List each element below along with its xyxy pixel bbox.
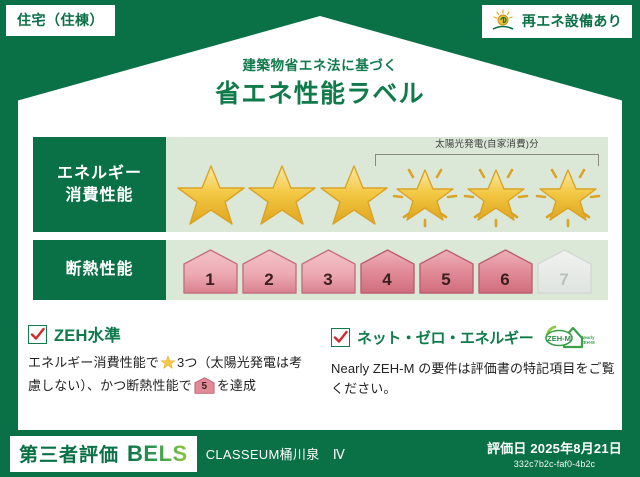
evaluation-id: 332c7b2c-faf0-4b2c [487, 459, 622, 469]
insulation-grade-list: 1 2 3 4 [174, 246, 600, 295]
insulation-grade-2: 2 [241, 248, 298, 295]
inline-star-icon [160, 354, 176, 376]
solar-sun-icon [490, 9, 516, 33]
claim-zeh-title: ZEH水準 [54, 322, 121, 346]
inline-grade-number: 5 [194, 379, 215, 395]
claims-section: ZEH水準 エネルギー消費性能で3つ（太陽光発電は考慮しない）、かつ断熱性能で5… [28, 322, 616, 399]
insulation-performance-row: 断熱性能 [33, 240, 608, 300]
claim-zeh-desc-part1: エネルギー消費性能で [28, 355, 159, 370]
renewable-energy-badge: 再エネ設備あり [482, 5, 632, 38]
insulation-grade-2-number: 2 [241, 270, 298, 290]
bels-certification-chip: 第三者評価 BELS [10, 436, 197, 472]
checkmark-icon [28, 325, 47, 344]
energy-label-line2: 消費性能 [65, 185, 133, 207]
claim-zeh-description: エネルギー消費性能で3つ（太陽光発電は考慮しない）、かつ断熱性能で5を達成 [28, 353, 313, 396]
svg-text:ZEH-M: ZEH-M [582, 340, 596, 345]
insulation-performance-label: 断熱性能 [33, 240, 166, 300]
inline-grade-badge-icon: 5 [194, 377, 215, 394]
label-titles: 建築物省エネ法に基づく 省エネ性能ラベル [0, 58, 640, 109]
energy-star-6-solar [531, 160, 602, 228]
energy-label-root: 住宅（住棟） 再エネ設備あり 建築物省エネ法に基づく 省エネ性能ラベル [0, 0, 640, 477]
insulation-grade-3: 3 [300, 248, 357, 295]
energy-performance-label: エネルギー 消費性能 [33, 137, 166, 232]
insulation-grade-5-number: 5 [418, 270, 475, 290]
insulation-grade-1-number: 1 [182, 270, 239, 290]
energy-star-5-solar [459, 160, 530, 228]
bels-jp-label: 第三者評価 [19, 440, 119, 467]
energy-star-4-solar [388, 160, 459, 228]
title-main: 省エネ性能ラベル [0, 80, 640, 109]
insulation-grade-5: 5 [418, 248, 475, 295]
checkmark-icon [331, 328, 350, 347]
bels-logo-text: BELS [127, 441, 188, 467]
energy-performance-stars-area: 太陽光発電(自家消費)分 [166, 137, 608, 232]
insulation-grade-area: 1 2 3 4 [166, 240, 608, 300]
insulation-grade-7-number: 7 [536, 270, 593, 290]
category-tab: 住宅（住棟） [6, 5, 115, 36]
energy-star-2 [245, 160, 316, 228]
claim-zeh-desc-part3: を達成 [217, 378, 256, 393]
claim-zeh-header: ZEH水準 [28, 322, 313, 346]
insulation-grade-4-number: 4 [359, 270, 416, 290]
evaluation-date: 評価日 2025年8月21日 [487, 438, 622, 457]
solar-annotation-label: 太陽光発電(自家消費)分 [375, 140, 599, 150]
claim-net-zero-energy: ネット・ゼロ・エネルギー ZEH-M Nearly ZEH-M Nearly Z… [331, 322, 616, 399]
evaluation-info: 評価日 2025年8月21日 332c7b2c-faf0-4b2c [487, 438, 622, 469]
energy-star-3 [317, 160, 388, 228]
insulation-grade-4: 4 [359, 248, 416, 295]
insulation-grade-6-number: 6 [477, 270, 534, 290]
insulation-grade-7: 7 [536, 248, 593, 295]
insulation-grade-3-number: 3 [300, 270, 357, 290]
project-name: CLASSEUM桶川泉 Ⅳ [206, 444, 345, 463]
insulation-grade-6: 6 [477, 248, 534, 295]
energy-star-list [174, 159, 602, 228]
claim-nze-description: Nearly ZEH-M の要件は評価書の特記項目をご覧ください。 [331, 359, 616, 399]
svg-text:ZEH-M: ZEH-M [548, 334, 572, 343]
insulation-label-text: 断熱性能 [65, 259, 133, 281]
energy-performance-row: エネルギー 消費性能 太陽光発電(自家消費)分 [33, 137, 608, 232]
energy-star-1 [174, 160, 245, 228]
footer-bar: 第三者評価 BELS CLASSEUM桶川泉 Ⅳ 評価日 2025年8月21日 … [0, 430, 640, 477]
energy-label-line1: エネルギー [57, 163, 142, 185]
claim-zeh-standard: ZEH水準 エネルギー消費性能で3つ（太陽光発電は考慮しない）、かつ断熱性能で5… [28, 322, 313, 399]
zeh-m-logo-icon: ZEH-M Nearly ZEH-M [542, 322, 598, 352]
renewable-badge-label: 再エネ設備あり [522, 11, 622, 31]
insulation-grade-1: 1 [182, 248, 239, 295]
claim-nze-title: ネット・ゼロ・エネルギー [357, 327, 533, 348]
title-subtitle: 建築物省エネ法に基づく [0, 58, 640, 74]
category-tab-label: 住宅（住棟） [17, 12, 104, 28]
claim-nze-header: ネット・ゼロ・エネルギー ZEH-M Nearly ZEH-M [331, 322, 616, 352]
